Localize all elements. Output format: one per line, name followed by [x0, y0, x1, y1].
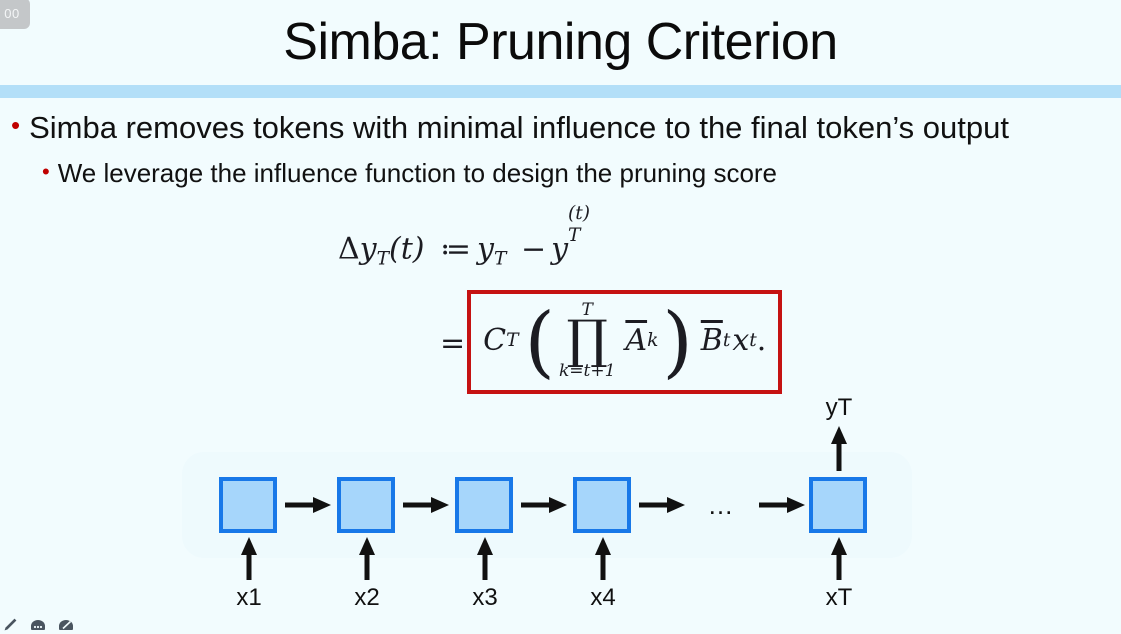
pen-icon[interactable] — [0, 616, 20, 634]
eq2-c: C — [483, 323, 506, 358]
bullet-list: • Simba removes tokens with minimal infl… — [0, 104, 1121, 194]
eq2-content: CT ( T ∏ k=t+1 Ak ) Btxt. — [483, 302, 766, 380]
eq2-paren-close: ) — [662, 316, 692, 369]
bullet-item-level1: • Simba removes tokens with minimal infl… — [0, 104, 1121, 152]
eq2-x-sub: t — [749, 330, 756, 351]
eq2-x: x — [732, 323, 749, 358]
input-arrow-1 — [238, 536, 260, 582]
slide-title-area: Simba: Pruning Criterion — [0, 0, 1121, 84]
eq1-rhs-y1: y — [477, 232, 494, 267]
sequence-node-4 — [573, 477, 631, 533]
sequence-node-3 — [455, 477, 513, 533]
input-arrow-3 — [474, 536, 496, 582]
eq1-minus: − — [516, 232, 551, 267]
flow-arrow-4-ellipsis — [637, 494, 687, 516]
eq2-relation: = — [440, 326, 467, 361]
eq1-y-sub: T — [377, 249, 389, 270]
sequence-node-1 — [219, 477, 277, 533]
eq1-rhs-y2-sub: T — [568, 227, 590, 246]
eq2-product-operator: T ∏ k=t+1 — [559, 302, 615, 380]
bullet-text-2: We leverage the influence function to de… — [58, 152, 777, 194]
input-label-x3: x3 — [445, 584, 525, 612]
equation-delta-y: ΔyT(t) ≔yT −y(t)T — [338, 226, 590, 270]
eq2-b-bar: B — [701, 323, 723, 358]
flow-arrow-3-4 — [519, 494, 569, 516]
bullet-marker-icon: • — [42, 161, 50, 183]
sequence-node-T — [809, 477, 867, 533]
eq2-period: . — [757, 323, 767, 358]
flow-arrow-2-3 — [401, 494, 451, 516]
flow-arrow-ellipsis-T — [757, 494, 807, 516]
input-label-x1: x1 — [209, 584, 289, 612]
eq1-delta: Δ — [338, 232, 360, 267]
eq1-relation: ≔ — [434, 232, 477, 267]
more-options-icon[interactable] — [28, 616, 48, 634]
eq1-rhs-y2: y — [551, 232, 568, 267]
eq2-a-bar: A — [625, 323, 647, 358]
eq1-rhs-y1-sub: T — [494, 249, 506, 270]
eq1-y: y — [360, 232, 377, 267]
laser-pointer-icon[interactable] — [56, 616, 76, 634]
sequence-node-2 — [337, 477, 395, 533]
eq2-paren-open: ( — [525, 316, 555, 369]
product-symbol-icon: ∏ — [566, 320, 607, 361]
input-arrow-4 — [592, 536, 614, 582]
bullet-item-level2: • We leverage the influence function to … — [0, 152, 1121, 194]
input-label-x2: x2 — [327, 584, 407, 612]
eq2-product-lower-limit: k=t+1 — [559, 363, 615, 380]
presenter-toolbar[interactable] — [0, 616, 76, 634]
input-arrow-T — [828, 536, 850, 582]
sequence-ellipsis: … — [702, 492, 742, 518]
input-label-x4: x4 — [563, 584, 643, 612]
page-title: Simba: Pruning Criterion — [283, 16, 837, 68]
equation-product-form: = CT ( T ∏ k=t+1 Ak ) Btxt. — [440, 290, 782, 394]
output-arrow-T — [828, 425, 850, 473]
eq1-arg: (t) — [389, 232, 424, 267]
eq2-b-sub: t — [723, 330, 730, 351]
equation-highlight-box: CT ( T ∏ k=t+1 Ak ) Btxt. — [467, 290, 782, 394]
flow-arrow-1-2 — [283, 494, 333, 516]
title-divider-rule — [0, 85, 1121, 98]
eq1-rhs-y2-sup: (t) — [568, 205, 590, 224]
input-label-xT: xT — [799, 584, 879, 612]
slideshow-timer-badge: 00 — [0, 0, 30, 29]
bullet-marker-icon: • — [11, 112, 20, 138]
eq2-c-sub: T — [506, 330, 518, 351]
eq2-a-sub: k — [647, 330, 658, 351]
input-arrow-2 — [356, 536, 378, 582]
eq1-rhs-y2-scripts: (t)T — [568, 226, 590, 263]
output-label-yT: yT — [799, 394, 879, 422]
presentation-slide: 00 Simba: Pruning Criterion • Simba remo… — [0, 0, 1121, 634]
bullet-text-1: Simba removes tokens with minimal influe… — [29, 104, 1009, 152]
